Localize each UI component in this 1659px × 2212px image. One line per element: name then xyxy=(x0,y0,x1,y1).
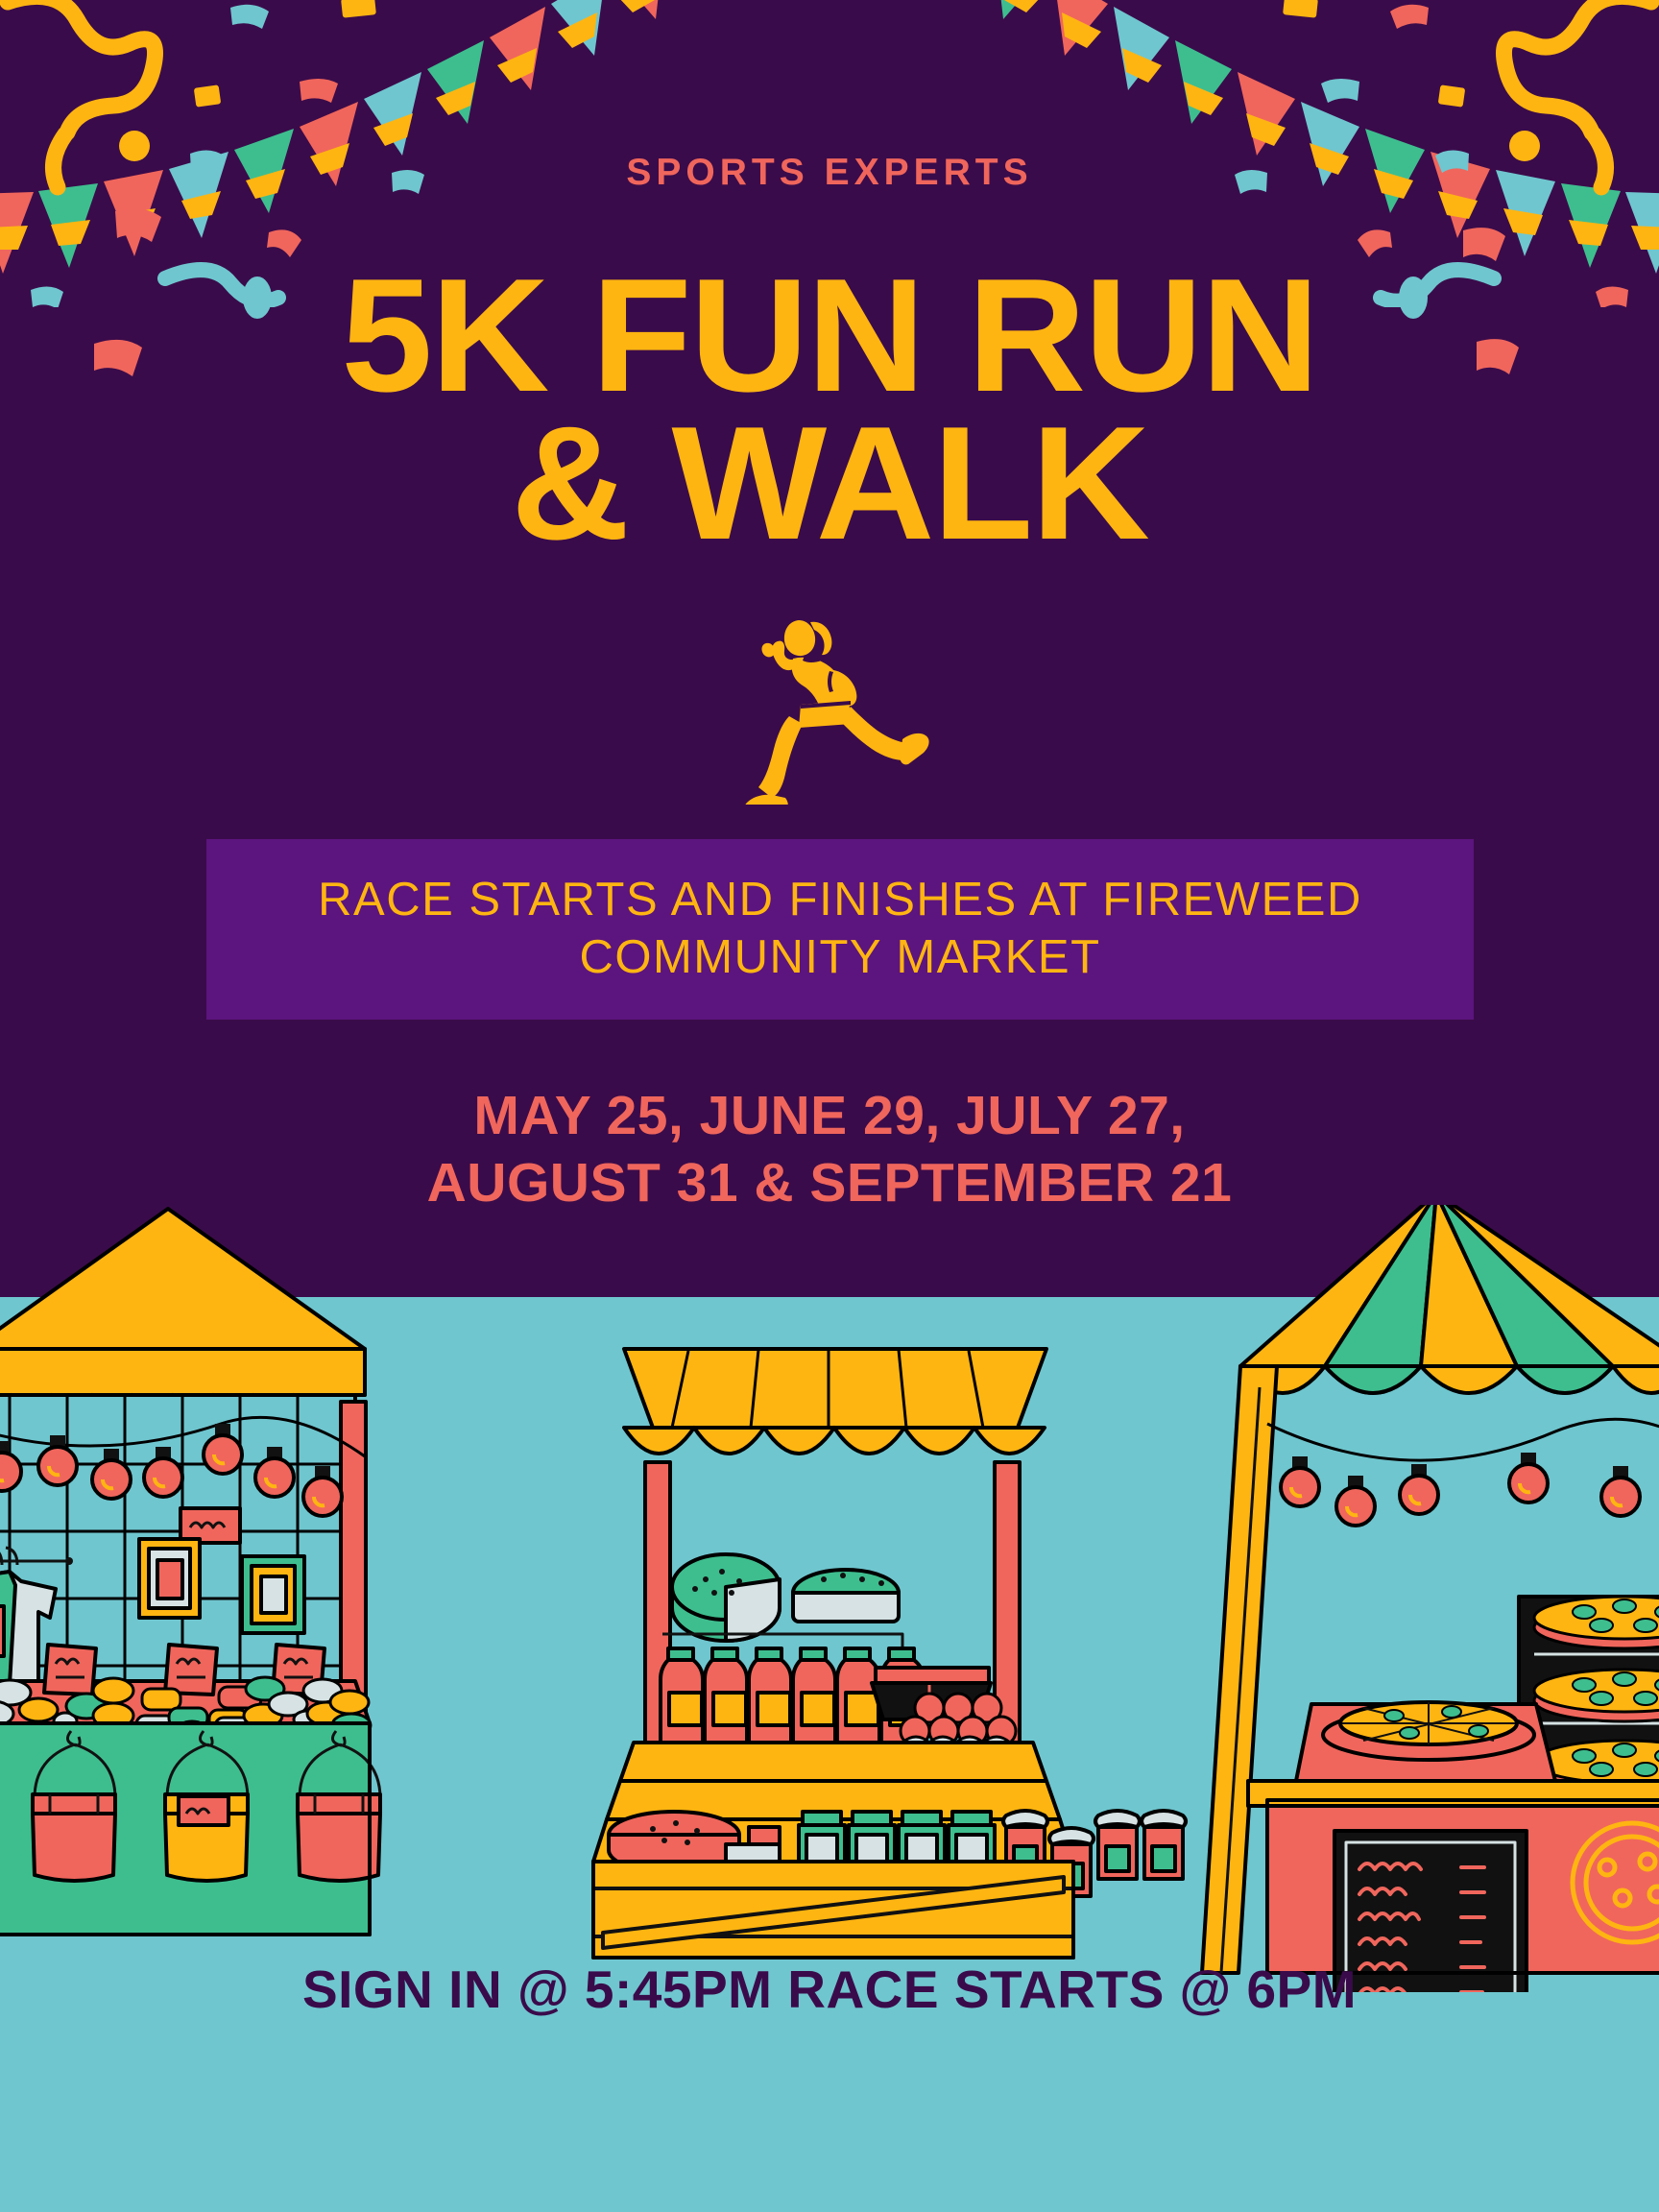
poster-canvas: SPORTS EXPERTS 5K FUN RUN & WALK xyxy=(0,0,1659,2212)
produce-stall xyxy=(593,1349,1186,1958)
title-line-2: & WALK xyxy=(0,407,1659,561)
pizza-stack xyxy=(1534,1597,1659,1792)
page-title: 5K FUN RUN & WALK xyxy=(0,259,1659,560)
runner-icon xyxy=(730,613,931,805)
title-line-1: 5K FUN RUN xyxy=(0,259,1659,413)
race-dates: MAY 25, JUNE 29, JULY 27, AUGUST 31 & SE… xyxy=(0,1083,1659,1216)
kicker-text: SPORTS EXPERTS xyxy=(0,152,1659,194)
table-price-tag-1 xyxy=(44,1645,96,1695)
pizza-stall xyxy=(1202,1205,1659,1992)
picture-frame-1 xyxy=(139,1539,200,1618)
market-stalls-illustration xyxy=(0,1205,1659,1992)
tent-roof xyxy=(1240,1205,1659,1393)
banner-text: RACE STARTS AND FINISHES AT FIREWEED COM… xyxy=(226,872,1455,987)
table-price-tag-2 xyxy=(165,1645,217,1695)
pizza-oven xyxy=(1296,1702,1555,1781)
string-light-bulbs-right xyxy=(1281,1453,1640,1526)
craft-stall xyxy=(0,1209,380,1935)
picture-frame-2 xyxy=(242,1556,304,1633)
cheese-wheels xyxy=(672,1554,899,1641)
dates-line-1: MAY 25, JUNE 29, JULY 27, xyxy=(0,1083,1659,1150)
location-banner: RACE STARTS AND FINISHES AT FIREWEED COM… xyxy=(206,839,1474,1020)
signin-time-text: SIGN IN @ 5:45PM RACE STARTS @ 6PM xyxy=(0,1959,1659,2020)
